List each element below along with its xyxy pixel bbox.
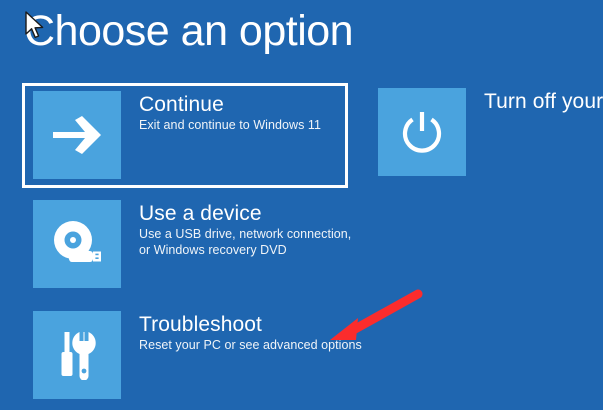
option-subtitle-line: Use a USB drive, network connection, [139,227,351,243]
continue-icon-box [33,91,121,179]
power-icon [398,108,446,156]
mouse-cursor-icon [24,11,46,41]
option-continue[interactable]: Continue Exit and continue to Windows 11 [22,83,348,188]
option-subtitle-line: or Windows recovery DVD [139,243,351,259]
option-use-a-device[interactable]: Use a device Use a USB drive, network co… [33,200,353,288]
arrow-right-icon [51,115,103,155]
turn-off-icon-box [378,88,466,176]
turn-off-labels: Turn off your PC [484,88,603,115]
continue-labels: Continue Exit and continue to Windows 11 [139,91,321,134]
option-subtitle-line: Reset your PC or see advanced options [139,338,362,354]
option-title: Use a device [139,201,351,227]
option-subtitle-line: Exit and continue to Windows 11 [139,118,321,134]
choose-an-option-screen: Choose an option Continue Exit and conti… [0,0,603,410]
option-troubleshoot[interactable]: Troubleshoot Reset your PC or see advanc… [33,311,353,399]
use-a-device-labels: Use a device Use a USB drive, network co… [139,200,351,258]
option-title: Troubleshoot [139,312,362,338]
option-title: Continue [139,92,321,118]
tools-icon [53,330,101,380]
disc-usb-icon [49,218,105,270]
option-title: Turn off your PC [484,89,603,115]
use-a-device-icon-box [33,200,121,288]
option-turn-off-pc[interactable]: Turn off your PC [378,88,603,176]
troubleshoot-labels: Troubleshoot Reset your PC or see advanc… [139,311,362,354]
page-title: Choose an option [24,2,353,60]
troubleshoot-icon-box [33,311,121,399]
